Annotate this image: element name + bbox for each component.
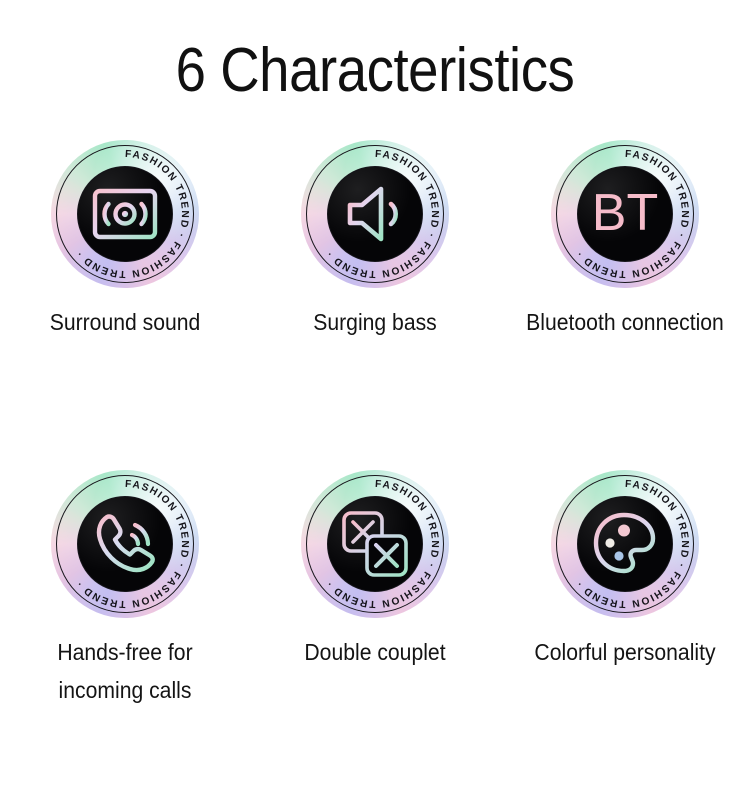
feature-poster: 6 Characteristics FASHION TREND · FASHIO… <box>0 0 750 750</box>
feature-double-couplet[interactable]: FASHION TREND · FASHION TREND · <box>250 470 500 800</box>
badge-surround-sound: FASHION TREND · FASHION TREND · <box>51 140 199 288</box>
bt-text-icon: BT <box>592 187 658 239</box>
caption-double-couplet: Double couplet <box>265 634 486 672</box>
feature-surround-sound[interactable]: FASHION TREND · FASHION TREND · <box>0 140 250 470</box>
badge-hands-free: FASHION TREND · FASHION TREND · <box>51 470 199 618</box>
badge-double-couplet: FASHION TREND · FASHION TREND · <box>301 470 449 618</box>
badge-core <box>577 496 673 592</box>
badge-surging-bass: FASHION TREND · FASHION TREND · <box>301 140 449 288</box>
badge-core <box>327 166 423 262</box>
features-grid: FASHION TREND · FASHION TREND · <box>0 140 750 800</box>
caption-surround-sound: Surround sound <box>15 304 236 342</box>
caption-hands-free-calls: Hands-free for incoming calls <box>15 634 236 710</box>
palette-icon <box>588 507 662 581</box>
badge-core <box>327 496 423 592</box>
double-square-x-icon <box>338 507 412 581</box>
feature-colorful-personality[interactable]: FASHION TREND · FASHION TREND · <box>500 470 750 800</box>
badge-bluetooth: FASHION TREND · FASHION TREND · BT <box>551 140 699 288</box>
badge-core <box>77 496 173 592</box>
badge-core <box>77 166 173 262</box>
speaker-volume-icon <box>338 177 412 251</box>
caption-bluetooth-connection: Bluetooth connection <box>510 304 740 342</box>
surround-sound-icon <box>88 177 162 251</box>
badge-core: BT <box>577 166 673 262</box>
feature-hands-free-calls[interactable]: FASHION TREND · FASHION TREND · <box>0 470 250 800</box>
badge-colorful-personality: FASHION TREND · FASHION TREND · <box>551 470 699 618</box>
phone-call-icon <box>88 507 162 581</box>
caption-surging-bass: Surging bass <box>265 304 486 342</box>
caption-colorful-personality: Colorful personality <box>515 634 736 672</box>
feature-surging-bass[interactable]: FASHION TREND · FASHION TREND · <box>250 140 500 470</box>
page-title: 6 Characteristics <box>45 0 705 102</box>
feature-bluetooth-connection[interactable]: FASHION TREND · FASHION TREND · BT Bluet… <box>500 140 750 470</box>
